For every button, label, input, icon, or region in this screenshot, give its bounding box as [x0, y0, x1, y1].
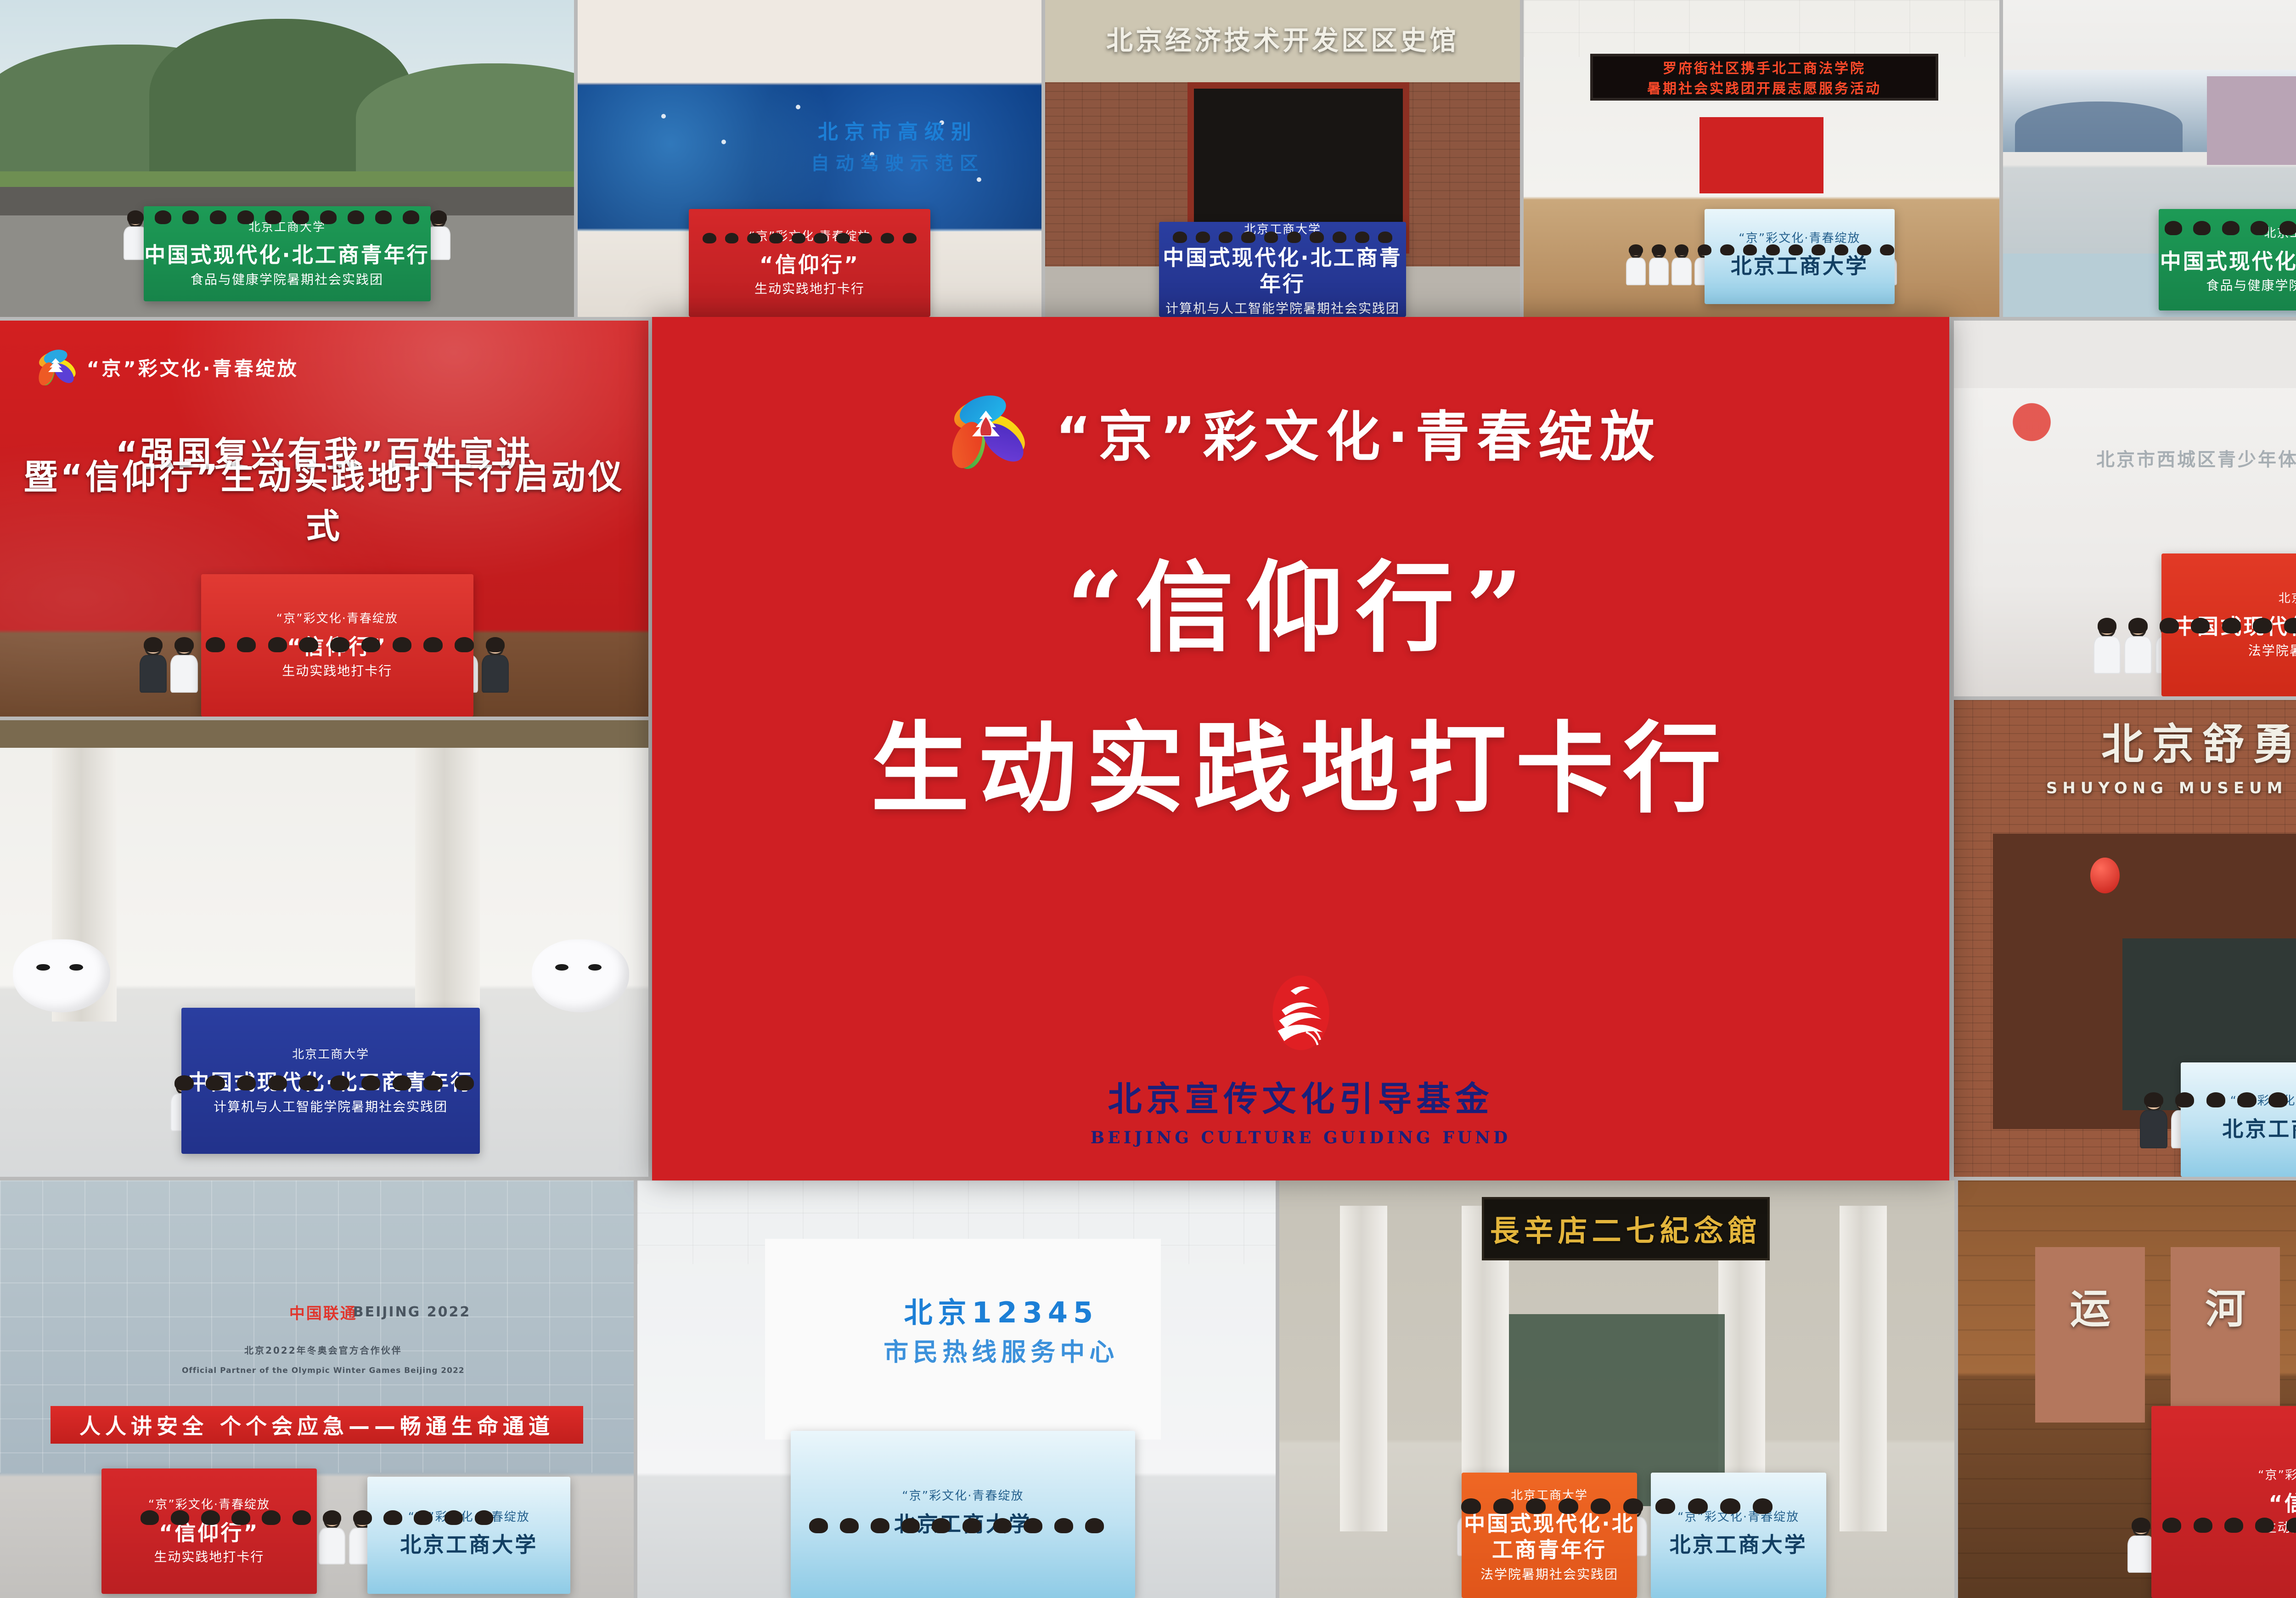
photo-changxindian-memorial: 長辛店二七紀念館 北京工商大学 中国式现代化·北工商青年行: [1279, 1180, 1954, 1598]
sign-text: 長辛店二七紀念館: [1490, 1208, 1762, 1250]
hero-panel: “京”彩文化·青春绽放 “信仰行” 生动实践地打卡行 北京宣传文化引导基金 BE…: [652, 317, 1949, 1180]
photo-cell-china-unicom: 中国联通 BEIJING 2022 北京2022年冬奥会官方合作伙伴 Offic…: [0, 1180, 634, 1598]
banner-top-text: 北京工商大学: [248, 220, 326, 235]
hero-footer: 北京宣传文化引导基金 BEIJING CULTURE GUIDING FUND: [652, 968, 1949, 1147]
banner-top-text: “京”彩文化·青春绽放: [1739, 231, 1860, 246]
photo-cell-shuyong-museum: 北京舒勇美术馆 SHUYONG MUSEUM OF MODERN ART: [1954, 700, 2296, 1177]
photo-banner: “京”彩文化·青春绽放 北京工商大学: [2181, 1062, 2296, 1177]
photo-cell-community-volunteer: 罗府街社区携手北工商法学院 暑期社会实践团开展志愿服务活动: [1524, 0, 1999, 317]
jingcai-rainbow-pagoda-logo-icon: [940, 386, 1032, 478]
photo-sign-partner-en: Official Partner of the Olympic Winter G…: [165, 1360, 482, 1381]
photo-china-unicom: 中国联通 BEIJING 2022 北京2022年冬奥会官方合作伙伴 Offic…: [0, 1180, 634, 1598]
photo-launch-ceremony: “京”彩文化·青春绽放 “强国复兴有我”百姓宣讲 暨“信仰行”生动实践地打卡行启…: [0, 321, 648, 717]
photo-cell-youth-education-center: 北京市西城区青少年体验式法制教育中心 北京工: [1954, 321, 2296, 696]
banner-middle-text: 中国式现代化·北工商青年行: [1462, 1511, 1637, 1564]
photo-village-mountain: 北京工商大学 中国式现代化·北工商青年行 食品与健康学院暑期社会实践团: [0, 0, 574, 317]
photo-sign-12345: 北京12345: [855, 1289, 1148, 1331]
banner-bottom-text: 生动实践地打卡行: [754, 281, 865, 297]
banner-middle-text: 北京工商大学: [1670, 1532, 1807, 1558]
sign-text: 河: [2205, 1276, 2245, 1335]
photo-beijing-12345: 北京12345 市民热线服务中心: [637, 1180, 1276, 1598]
photo-sign-partner-cn: 北京2022年冬奥会官方合作伙伴: [177, 1339, 469, 1360]
photo-cell-exhibition-lobby: 北京工商大学 中国式现代化·北工商青年行 食品与健康学院暑期社会实践团: [2003, 0, 2296, 317]
banner-middle-text: “信仰行”: [2268, 1491, 2296, 1517]
photo-youth-education-center: 北京市西城区青少年体验式法制教育中心 北京工: [1954, 321, 2296, 696]
fund-name-cn: 北京宣传文化引导基金: [1108, 1072, 1494, 1121]
photo-sign-stage-title-2: 暨“信仰行”生动实践地打卡行启动仪式: [13, 475, 636, 522]
banner-bottom-text: 法学院暑期社会实践团: [1480, 1566, 1618, 1582]
fund-name-en: BEIJING CULTURE GUIDING FUND: [1091, 1128, 1511, 1147]
sign-text: 市民热线服务中心: [884, 1332, 1119, 1368]
sign-text: 北京2022年冬奥会官方合作伙伴: [244, 1343, 402, 1356]
photo-cell-bda-museum: 北京经济技术开发区区史馆 北京工商大学 中国式现代化·北工商青年行: [1045, 0, 1520, 317]
sign-text: 北京12345: [904, 1289, 1098, 1331]
photo-cell-launch-ceremony: “京”彩文化·青春绽放 “强国复兴有我”百姓宣讲 暨“信仰行”生动实践地打卡行启…: [0, 321, 648, 717]
sign-text: 北京市西城区青少年体验式法制教育中心: [2096, 445, 2296, 471]
photo-grand-canal-theatre: 运 河 有 戏: [1958, 1180, 2296, 1598]
photo-sign-stage-kicker: “京”彩文化·青春绽放: [87, 353, 299, 381]
photo-cell-beijing-12345: 北京12345 市民热线服务中心: [637, 1180, 1276, 1598]
sign-text: 北京经济技术开发区区史馆: [1106, 19, 1459, 57]
banner-top-text: “京”彩文化·青春绽放: [748, 229, 870, 244]
sign-text: Official Partner of the Olympic Winter G…: [182, 1366, 465, 1375]
photo-sign-museum-cn: 北京舒勇美术馆: [2006, 710, 2296, 772]
photo-cell-changxindian-memorial: 長辛店二七紀念館 北京工商大学 中国式现代化·北工商青年行: [1279, 1180, 1954, 1598]
banner-top-text: “京”彩文化·青春绽放: [276, 611, 398, 627]
photo-banner: “京”彩文化·青春绽放 “信仰行” 生动实践地打卡行: [689, 209, 930, 317]
poster-root: 北京工商大学 中国式现代化·北工商青年行 食品与健康学院暑期社会实践团 北京市高…: [0, 0, 2296, 1598]
photo-banner: 北京工商大学 中国式现代化·北工商青年行 法学院暑期社会实践团: [1462, 1473, 1637, 1598]
jingcai-rainbow-pagoda-logo-icon: [33, 344, 79, 390]
banner-middle-text: 北京工商大学: [2222, 1116, 2296, 1143]
banner-middle-text: 北京工商大学: [1731, 253, 1868, 280]
banner-top-text: “京”彩文化·青春绽放: [2258, 1468, 2296, 1483]
photo-exhibition-lobby: 北京工商大学 中国式现代化·北工商青年行 食品与健康学院暑期社会实践团: [2003, 0, 2296, 317]
photo-banner-secondary: “京”彩文化·青春绽放 北京工商大学: [1651, 1473, 1826, 1598]
banner-bottom-text: 食品与健康学院暑期社会实践团: [2206, 277, 2296, 294]
photo-community-volunteer: 罗府街社区携手北工商法学院 暑期社会实践团开展志愿服务活动: [1524, 0, 1999, 317]
banner-bottom-text: 生动实践地打卡行: [282, 663, 392, 679]
hero-kicker: “京”彩文化·青春绽放: [1056, 393, 1662, 471]
photo-cell-jd-atrium: 北京工商大学 中国式现代化·北工商青年行 计算机与人工智能学院暑期社会实践团: [0, 720, 648, 1177]
photo-sign-wall-char-2: 河: [2171, 1272, 2280, 1339]
beijing-culture-guiding-fund-mark-icon: [1262, 968, 1339, 1064]
photo-sign-12345-sub: 市民热线服务中心: [829, 1331, 1174, 1368]
photo-banner: “京”彩文化·青春绽放 北京工商大学: [1705, 209, 1895, 304]
sign-text: “京”彩文化·青春绽放: [87, 353, 299, 381]
photo-sign-memorial-plaque: 長辛店二七紀念館: [1482, 1197, 1770, 1260]
photo-jd-atrium: 北京工商大学 中国式现代化·北工商青年行 计算机与人工智能学院暑期社会实践团: [0, 720, 648, 1177]
banner-middle-text: 中国式现代化·北工商青年行: [1159, 245, 1406, 298]
photo-cell-beihai-hall: 北京市高级别 自动驾驶示范区 “: [578, 0, 1041, 317]
photo-banner: “京”彩文化·青春绽放 北京工商大学: [791, 1431, 1136, 1598]
photo-shuyong-museum: 北京舒勇美术馆 SHUYONG MUSEUM OF MODERN ART: [1954, 700, 2296, 1177]
banner-bottom-text: 法学院暑期社会实践团: [2248, 643, 2296, 659]
banner-top-text: 北京工商大学: [2279, 591, 2296, 606]
photo-sign: 北京经济技术开发区区史馆: [1092, 13, 1472, 63]
sign-text: SHUYONG MUSEUM OF MODERN ART: [2046, 779, 2296, 797]
photo-banner: “京”彩文化·青春绽放 “信仰行” 生动实践地打卡行: [101, 1468, 317, 1594]
photo-banner: “京”彩文化·青春绽放 “信仰行” 生动实践地打卡行: [2151, 1406, 2296, 1598]
photo-sign-screen: 北京市西城区青少年体验式法制教育中心: [2019, 441, 2296, 475]
photo-banner-secondary: “京”彩文化·青春绽放 北京工商大学: [367, 1477, 570, 1594]
photo-sign-museum-en: SHUYONG MUSEUM OF MODERN ART: [2006, 772, 2296, 805]
sign-text: 运: [2070, 1276, 2110, 1335]
photo-cell-village-mountain: 北京工商大学 中国式现代化·北工商青年行 食品与健康学院暑期社会实践团: [0, 0, 574, 317]
sign-text: 暑期社会实践团开展志愿服务活动: [1647, 77, 1881, 97]
hero-headline: “京”彩文化·青春绽放: [652, 386, 1949, 478]
hero-title-line-2: 生动实践地打卡行: [871, 689, 1731, 831]
banner-bottom-text: 计算机与人工智能学院暑期社会实践团: [1165, 300, 1400, 316]
banner-top-text: 北京工商大学: [292, 1047, 369, 1062]
photo-cell-grand-canal-theatre: 运 河 有 戏: [1958, 1180, 2296, 1598]
sign-text: 罗府街社区携手北工商法学院: [1663, 57, 1866, 77]
banner-middle-text: 北京工商大学: [400, 1532, 538, 1558]
photo-sign-beijing2022: BEIJING 2022: [330, 1298, 495, 1327]
photo-beihai-hall: 北京市高级别 自动驾驶示范区 “: [578, 0, 1041, 317]
red-lantern-left: [2090, 858, 2120, 893]
banner-middle-text: “信仰行”: [760, 252, 860, 278]
banner-bottom-text: 计算机与人工智能学院暑期社会实践团: [214, 1099, 448, 1115]
banner-middle-text: 中国式现代化·北工商青年行: [2160, 248, 2296, 275]
banner-bottom-text: 生动实践地打卡行: [154, 1549, 264, 1565]
sign-text: BEIJING 2022: [353, 1304, 471, 1320]
banner-bottom-text: 食品与健康学院暑期社会实践团: [191, 271, 383, 288]
photo-bda-museum: 北京经济技术开发区区史馆 北京工商大学 中国式现代化·北工商青年行: [1045, 0, 1520, 317]
banner-top-text: “京”彩文化·青春绽放: [902, 1489, 1024, 1504]
photo-sign-wall-char-1: 运: [2035, 1272, 2145, 1339]
sign-text: 北京舒勇美术馆: [2101, 710, 2296, 771]
hero-title-line-1: “信仰行”: [1067, 528, 1534, 671]
banner-middle-text: 中国式现代化·北工商青年行: [144, 242, 429, 269]
photo-sign-led: 罗府街社区携手北工商法学院 暑期社会实践团开展志愿服务活动: [1590, 54, 1938, 101]
